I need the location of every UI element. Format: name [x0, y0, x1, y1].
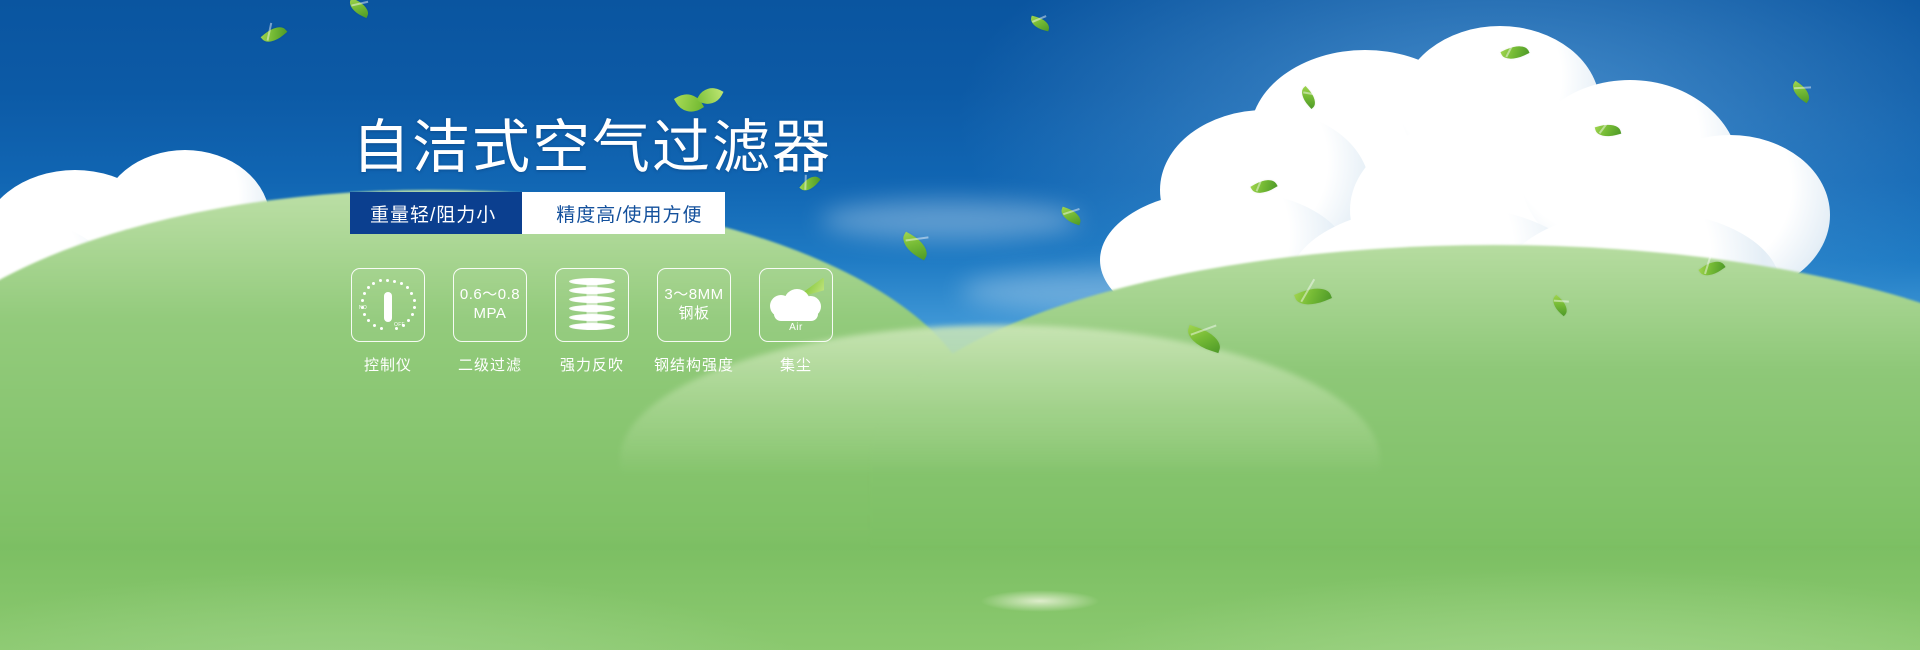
feature-caption: 强力反吹: [560, 354, 624, 375]
feature-caption: 控制仪: [364, 354, 412, 375]
feature-item-pressure[interactable]: 0.6～0.8 MPA 二级过滤: [452, 268, 528, 375]
feature-icon-list: NO OFF 控制仪 0.6～0.8 MPA 二级过滤: [350, 268, 834, 375]
feature-item-steel[interactable]: 3～8MM 钢板 钢结构强度: [656, 268, 732, 375]
gauge-dial-icon: NO OFF: [360, 277, 416, 333]
feature-box: Air: [759, 268, 833, 342]
feature-box-text: 0.6～0.8 MPA: [454, 286, 526, 324]
feature-item-dust[interactable]: Air 集尘: [758, 268, 834, 375]
feature-caption: 二级过滤: [458, 354, 522, 375]
feature-caption: 集尘: [780, 354, 812, 375]
gauge-label-no: NO: [359, 305, 367, 311]
tab-lightweight-low-resistance[interactable]: 重量轻/阻力小: [350, 192, 522, 234]
feature-caption: 钢结构强度: [654, 354, 734, 375]
feature-box: 3～8MM 钢板: [657, 268, 731, 342]
tab-high-precision-easy-use[interactable]: 精度高/使用方便: [522, 192, 724, 234]
feature-box-text: 3～8MM 钢板: [658, 286, 730, 324]
air-label: Air: [789, 322, 803, 333]
gauge-label-off: OFF: [394, 322, 405, 328]
feature-item-controller[interactable]: NO OFF 控制仪: [350, 268, 426, 375]
feature-box: 0.6～0.8 MPA: [453, 268, 527, 342]
feature-item-backblow[interactable]: 强力反吹: [554, 268, 630, 375]
feature-box: [555, 268, 629, 342]
feature-box: NO OFF: [351, 268, 425, 342]
page-title: 自洁式空气过滤器: [352, 118, 832, 179]
promo-banner: 自洁式空气过滤器 重量轻/阻力小 精度高/使用方便: [0, 0, 1920, 650]
pleated-filter-icon: [569, 278, 615, 332]
dust-cloud-air-icon: Air: [768, 279, 824, 331]
feature-tabs: 重量轻/阻力小 精度高/使用方便: [350, 192, 725, 234]
